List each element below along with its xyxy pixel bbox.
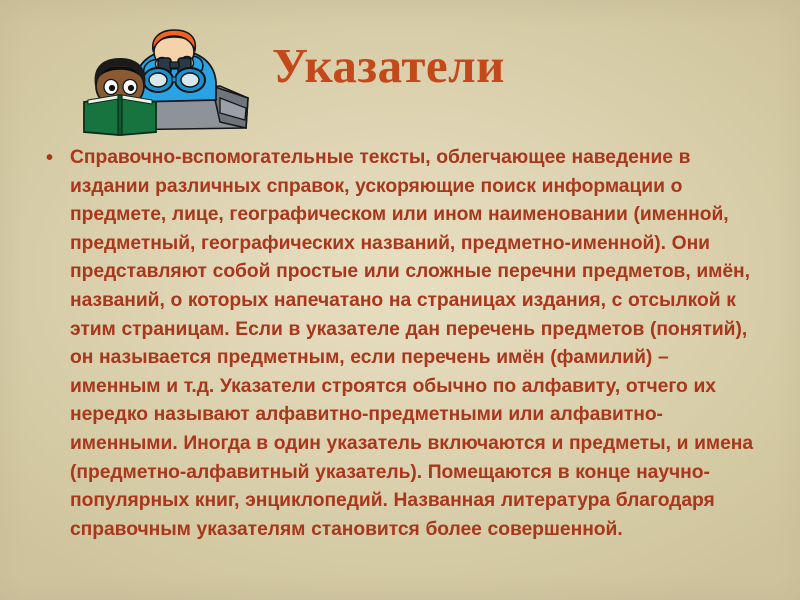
clipart-people-reading-book-with-binoculars xyxy=(70,24,260,136)
bullet-list-item: • Справочно-вспомогательные тексты, обле… xyxy=(40,144,764,544)
body-paragraph: Справочно-вспомогательные тексты, облегч… xyxy=(70,144,764,544)
boy-with-binoculars xyxy=(136,30,216,102)
page-title: Указатели xyxy=(272,38,742,94)
green-book-shape xyxy=(84,95,156,135)
bullet-dot-icon: • xyxy=(40,144,70,173)
slide-canvas: Указатели • Справочно-вспомогательные те… xyxy=(0,0,800,600)
